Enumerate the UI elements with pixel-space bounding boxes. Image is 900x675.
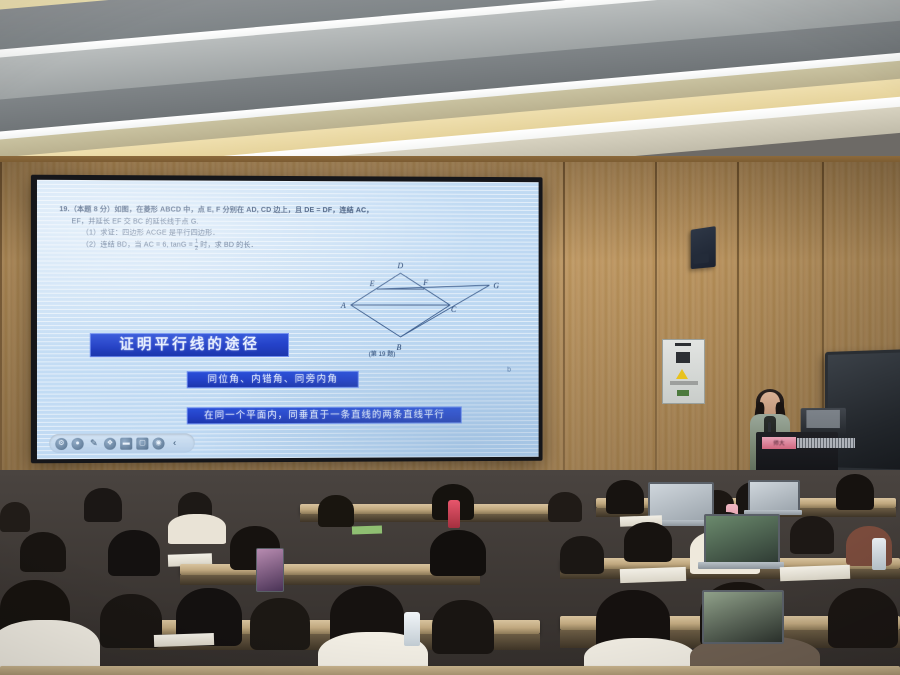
stray-mark: b bbox=[507, 367, 511, 374]
highlight-theorem-box: 在同一个平面内，同垂直于一条直线的两条直线平行 bbox=[187, 406, 462, 424]
paper bbox=[352, 525, 382, 534]
audience-person bbox=[430, 530, 486, 576]
audience-person bbox=[84, 488, 122, 522]
svg-text:F: F bbox=[422, 278, 428, 287]
question-text-block: 19.（本题 8 分）如图，在菱形 ABCD 中，点 E, F 分别在 AD, … bbox=[59, 204, 479, 253]
focus-icon[interactable]: ❖ bbox=[104, 437, 116, 449]
audience-person bbox=[108, 530, 160, 576]
lecture-hall-photo: 19.（本题 8 分）如图，在菱形 ABCD 中，点 E, F 分别在 AD, … bbox=[0, 0, 900, 675]
audience-person bbox=[606, 480, 644, 514]
audience-person bbox=[624, 522, 672, 562]
audience-person bbox=[20, 532, 66, 572]
audience-person bbox=[790, 516, 834, 554]
collapse-icon[interactable]: ‹ bbox=[169, 437, 181, 449]
globe-icon[interactable]: ◉ bbox=[152, 437, 164, 449]
highlight-title-box: 证明平行线的途径 bbox=[90, 333, 289, 357]
audience-person bbox=[828, 588, 898, 648]
fraction-denominator: 2 bbox=[195, 247, 198, 252]
projection-screen: 19.（本题 8 分）如图，在菱形 ABCD 中，点 E, F 分别在 AD, … bbox=[31, 175, 543, 464]
water-bottle bbox=[448, 500, 460, 528]
question-line-with-fraction: （2）连结 BD，当 AC = 6, tanG = 1 2 时，求 BD 的长． bbox=[59, 239, 479, 253]
water-bottle bbox=[404, 612, 420, 646]
audience-person bbox=[250, 598, 310, 650]
screen-icon[interactable]: ▬ bbox=[120, 437, 132, 449]
slide-toolbar[interactable]: ⚙ ● ✎ ❖ ▬ ▢ ◉ ‹ bbox=[49, 433, 195, 453]
podium-text-strip bbox=[797, 438, 855, 448]
electrical-panel bbox=[662, 339, 705, 404]
svg-text:C: C bbox=[451, 305, 457, 314]
speaker-icon bbox=[691, 226, 716, 269]
audience-person bbox=[318, 495, 354, 527]
audience-person bbox=[560, 536, 604, 574]
record-icon[interactable]: ● bbox=[72, 437, 84, 449]
highlight-method-box: 同位角、内错角、同旁内角 bbox=[187, 371, 359, 388]
geometry-figure: A B C D E F G bbox=[339, 255, 517, 355]
settings-icon[interactable]: ⚙ bbox=[55, 437, 67, 449]
paper bbox=[154, 633, 214, 647]
podium-sign: 师大 bbox=[762, 437, 796, 449]
audience-person bbox=[836, 474, 874, 510]
paper bbox=[780, 565, 850, 581]
audience-person bbox=[432, 600, 494, 654]
svg-text:G: G bbox=[493, 281, 499, 290]
svg-text:E: E bbox=[369, 279, 375, 288]
wall-seam bbox=[0, 162, 2, 492]
pen-icon[interactable]: ✎ bbox=[88, 437, 100, 449]
water-bottle bbox=[872, 538, 886, 570]
svg-text:B: B bbox=[397, 343, 402, 352]
wall-seam bbox=[655, 162, 657, 492]
high-voltage-warning-icon bbox=[676, 369, 688, 379]
annotate-icon[interactable]: ▢ bbox=[136, 437, 148, 449]
paper bbox=[620, 567, 686, 583]
audience-person bbox=[0, 502, 30, 532]
figure-caption: (第 19 题) bbox=[369, 349, 396, 358]
svg-text:A: A bbox=[340, 301, 346, 310]
audience-area bbox=[0, 470, 900, 675]
wall-seam bbox=[737, 162, 739, 492]
wall-seam bbox=[563, 162, 565, 492]
audience-person bbox=[100, 594, 162, 648]
fraction-numerator: 1 bbox=[195, 240, 198, 245]
fraction: 1 2 bbox=[195, 240, 198, 253]
question-line-part: （2）连结 BD，当 AC = 6, tanG = bbox=[82, 240, 193, 248]
podium-monitor bbox=[801, 408, 846, 434]
smartphone bbox=[256, 548, 284, 592]
audience-person bbox=[168, 514, 226, 544]
slide-surface: 19.（本题 8 分）如图，在菱形 ABCD 中，点 E, F 分别在 AD, … bbox=[37, 180, 539, 459]
question-line-part: 时，求 BD 的长． bbox=[200, 241, 258, 249]
podium-sign-label: 师大 bbox=[773, 439, 785, 447]
svg-text:D: D bbox=[397, 261, 404, 270]
audience-person bbox=[548, 492, 582, 522]
